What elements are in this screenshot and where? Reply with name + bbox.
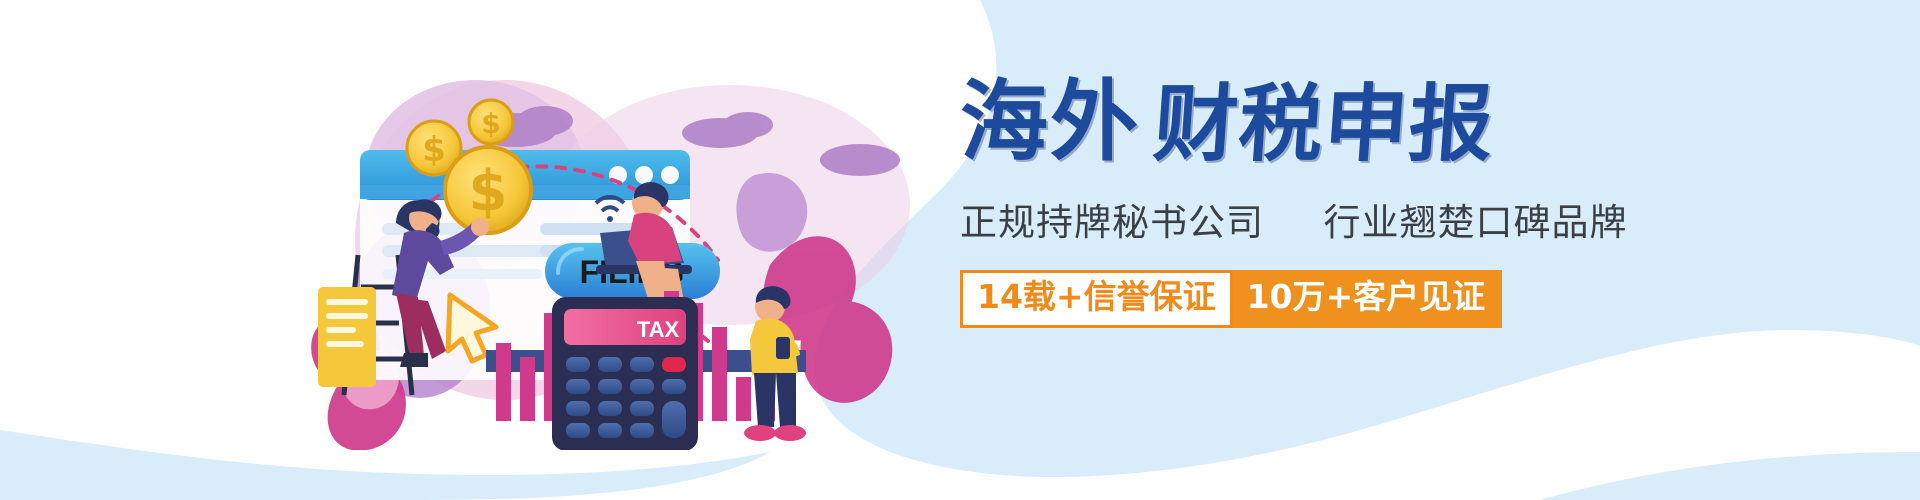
headline-part2: 财税申报 xyxy=(1151,82,1497,166)
svg-text:$: $ xyxy=(469,159,508,224)
svg-text:$: $ xyxy=(422,130,446,170)
subline: 正规持牌秘书公司 行业翘楚口碑品牌 xyxy=(960,192,1660,246)
copy-block: 海外 财税申报 正规持牌秘书公司 行业翘楚口碑品牌 14载+信誉保证 10万+客… xyxy=(960,78,1660,328)
hero-illustration: $ $ $ xyxy=(300,55,920,450)
badge-credit-guarantee: 14载+信誉保证 xyxy=(960,270,1233,328)
calculator-key-clear xyxy=(662,357,686,372)
calculator-display-label: TAX xyxy=(637,317,680,342)
badge-customer-proof: 10万+客户见证 xyxy=(1233,270,1503,328)
subline-left: 正规持牌秘书公司 xyxy=(960,201,1264,244)
calculator: TAX xyxy=(552,297,698,450)
headline-part1: 海外 xyxy=(960,78,1140,166)
svg-text:$: $ xyxy=(481,107,500,140)
document-stack xyxy=(318,287,376,387)
headline: 海外 财税申报 xyxy=(960,78,1660,166)
badge-row: 14载+信誉保证 10万+客户见证 xyxy=(960,270,1660,328)
coin-large: $ xyxy=(445,147,531,233)
promo-banner: $ $ $ xyxy=(0,0,1920,500)
subline-right: 行业翘楚口碑品牌 xyxy=(1324,201,1628,244)
coin-small-2: $ xyxy=(469,100,513,144)
